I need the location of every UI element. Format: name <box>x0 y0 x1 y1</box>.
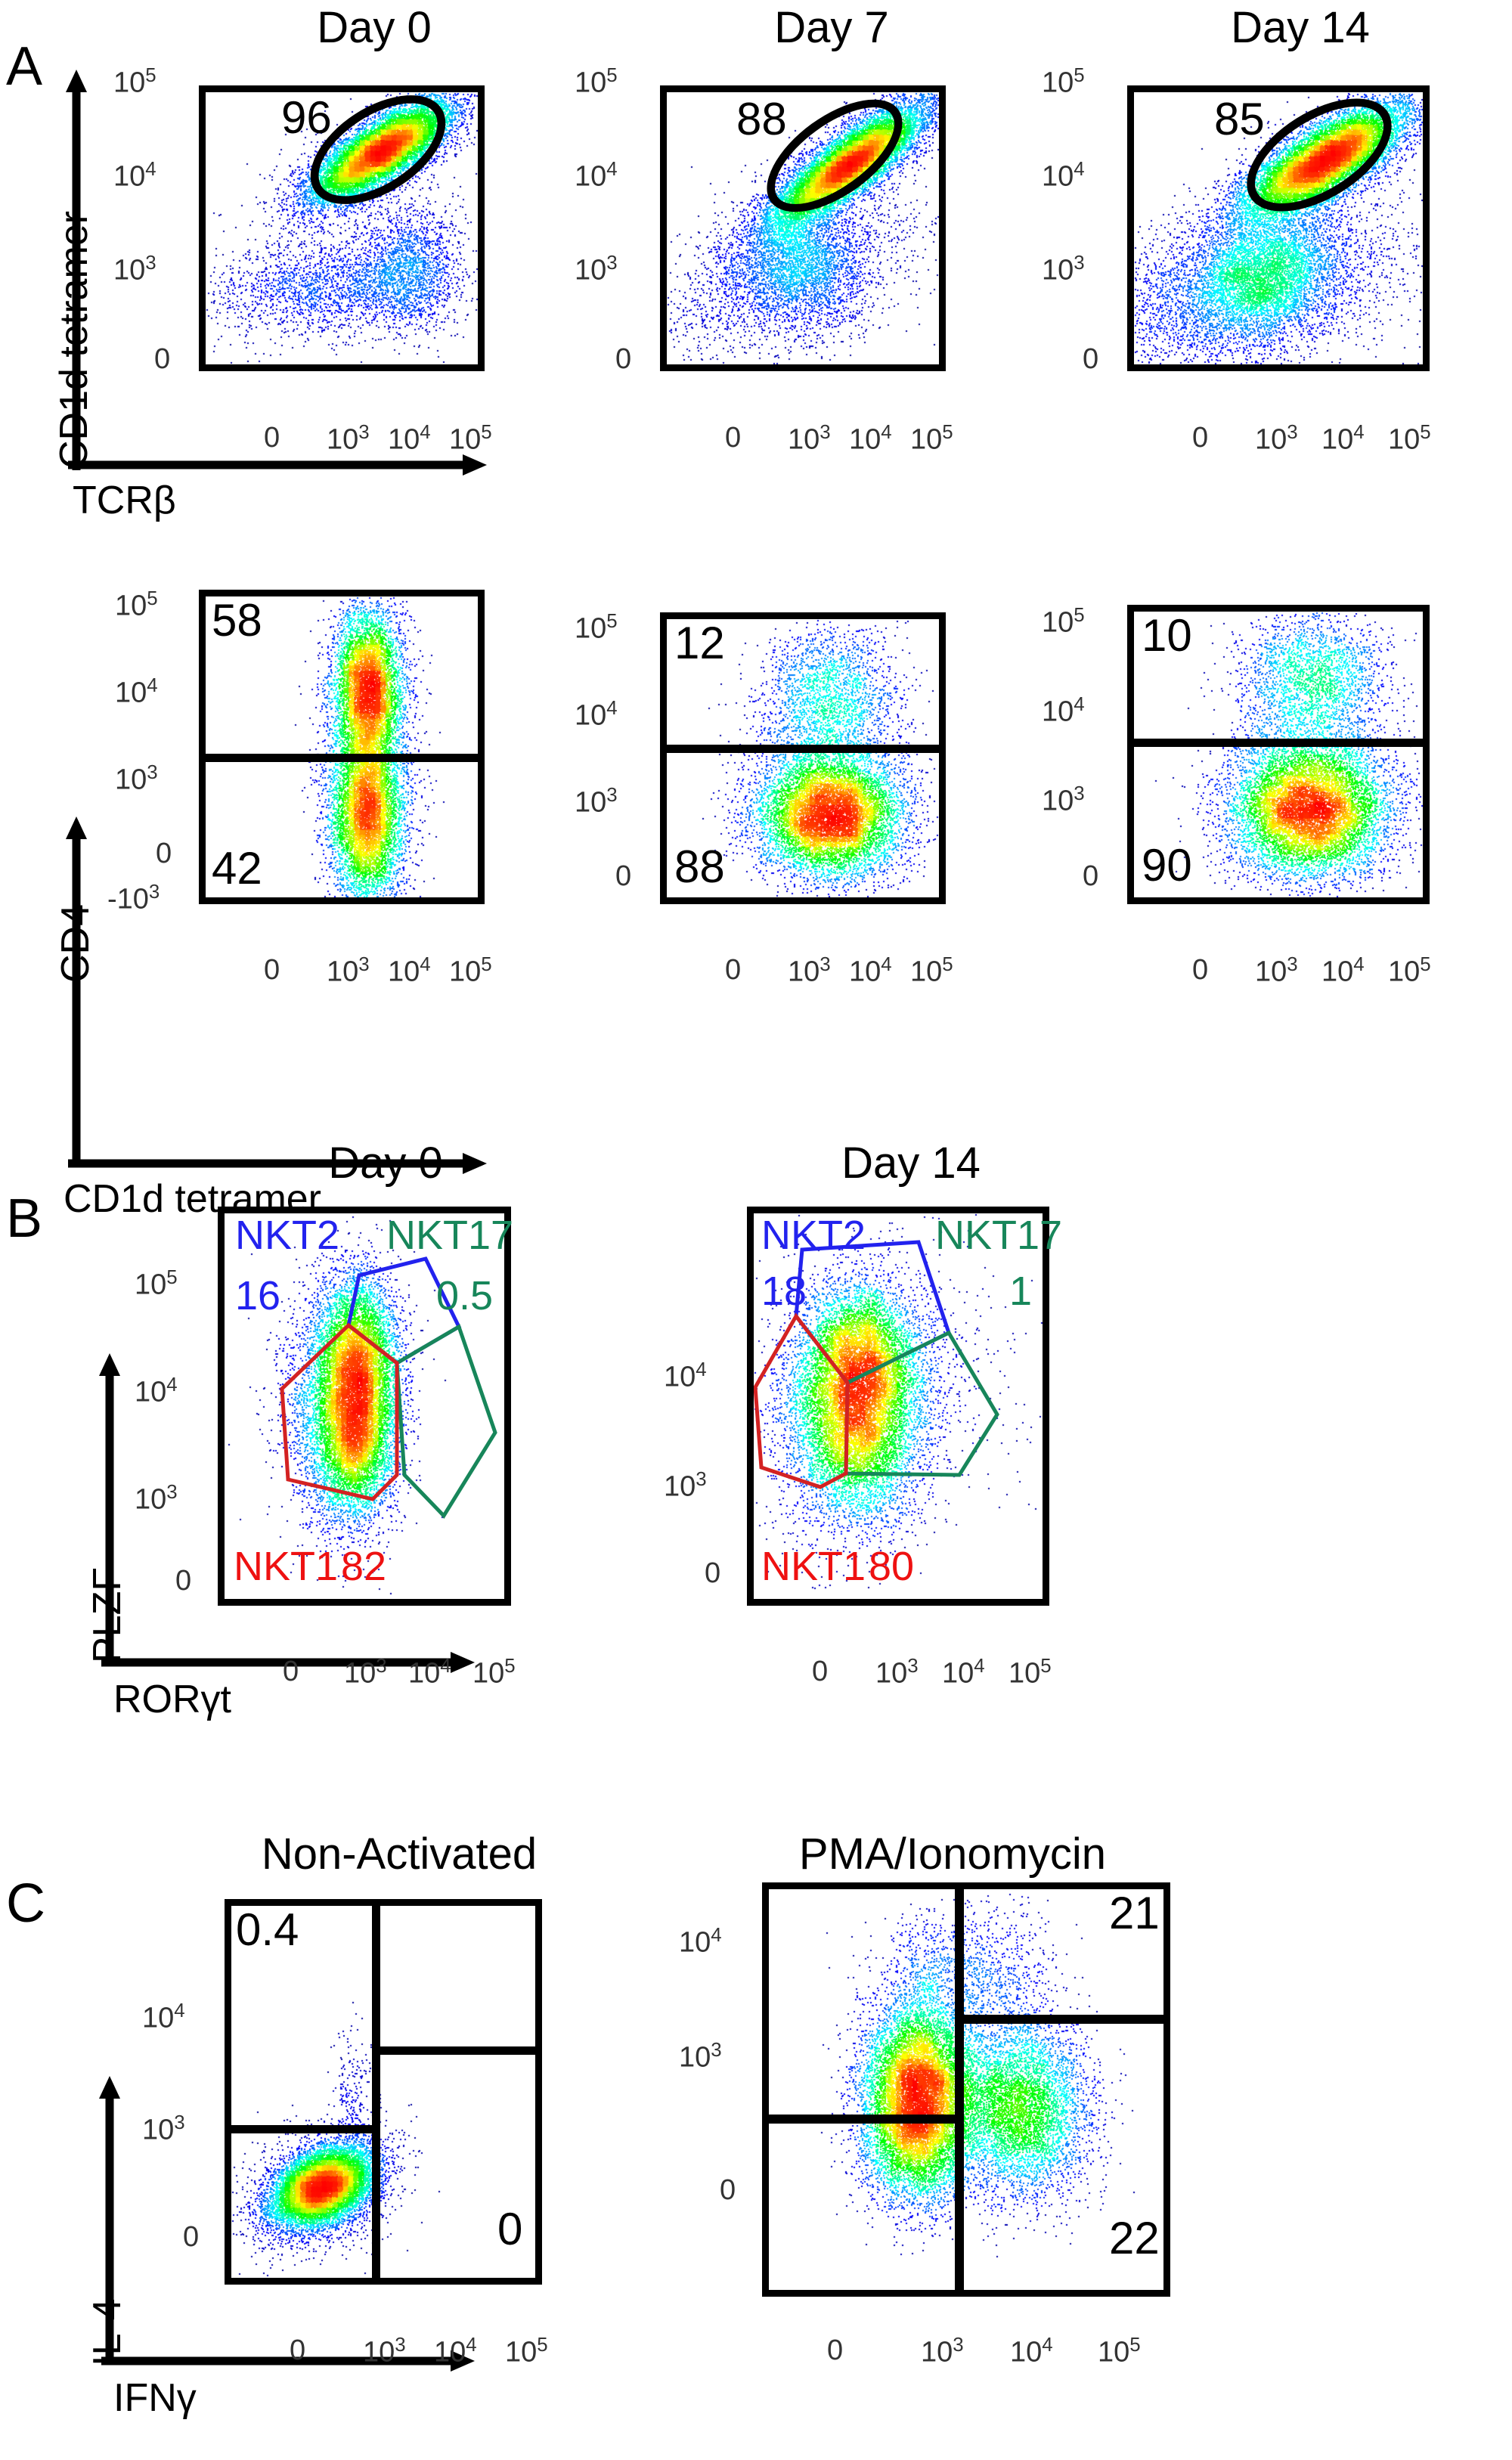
a1p1-ytick-1e4: 104 <box>113 160 156 191</box>
a1p3-ytick-1e4: 104 <box>1042 160 1085 191</box>
gate-value-a1-day7: 88 <box>736 97 787 142</box>
b2-ytick-1e3: 103 <box>664 1470 707 1501</box>
a1p3-xtick-1e4: 104 <box>1321 423 1365 454</box>
quadrant-line-h-left-c-pma[interactable] <box>769 2115 958 2124</box>
gate-value-a1-day0: 96 <box>281 95 332 141</box>
quadrant-line-v-c-nonactivated[interactable] <box>372 1906 380 2278</box>
a1p2-ytick-1e4: 104 <box>575 160 618 191</box>
c2-xtick-1e5: 105 <box>1098 2336 1141 2367</box>
a1p3-ytick-1e3: 103 <box>1042 254 1085 285</box>
plot-title-a1-day14: Day 14 <box>1119 6 1482 50</box>
a1p2-ytick-1e3: 103 <box>575 254 618 285</box>
plot-a1-day14[interactable]: 85 <box>1127 85 1430 371</box>
a2p3-ytick-1e5: 105 <box>1042 606 1085 637</box>
a1p3-xtick-1e3: 103 <box>1255 423 1298 454</box>
plot-title-c-pma: PMA/Ionomycin <box>726 1833 1179 1876</box>
gate-label-nkt17-b-day14: NKT17 <box>935 1215 1062 1256</box>
b-day0-gate-polygons[interactable] <box>225 1213 504 1599</box>
a1p3-xtick-1e5: 105 <box>1388 423 1431 454</box>
gate-value-nkt2-b-day0: 16 <box>235 1275 280 1316</box>
b-y-axis-label: PLZF <box>88 1567 127 1663</box>
a2p1-xtick-0: 0 <box>264 956 280 984</box>
b1-ytick-0: 0 <box>175 1566 191 1595</box>
c2-xtick-0: 0 <box>827 2336 843 2365</box>
a1p3-xtick-0: 0 <box>1192 423 1208 452</box>
plot-a1-day7[interactable]: 88 <box>660 85 946 371</box>
gate-value-lower-a2-day7: 88 <box>674 844 725 890</box>
quadrant-value-lower-right-c-nonactivated: 0 <box>497 2207 522 2252</box>
a1p1-ytick-1e5: 105 <box>113 67 156 98</box>
gate-value-upper-a2-day14: 10 <box>1142 613 1192 658</box>
a2p2-xtick-1e5: 105 <box>910 956 953 987</box>
quadrant-line-h-right-c-nonactivated[interactable] <box>375 2046 535 2055</box>
c-x-axis-arrow <box>97 2350 475 2372</box>
plot-a1-day0[interactable]: 96 <box>199 85 485 371</box>
a2p2-xtick-0: 0 <box>725 956 741 984</box>
plot-a2-day0[interactable]: 58 42 <box>199 590 485 904</box>
plot-title-b-day0: Day 0 <box>212 1142 559 1185</box>
a2p1-xtick-1e3: 103 <box>327 956 370 987</box>
b1-xtick-0: 0 <box>283 1657 299 1686</box>
gate-value-nkt17-b-day0: 0.5 <box>436 1275 493 1316</box>
b1-ytick-1e3: 103 <box>135 1483 178 1514</box>
a1-x-axis-arrow <box>64 454 487 476</box>
plot-b-day14[interactable]: NKT2 18 NKT17 1 NKT1 80 <box>747 1207 1049 1606</box>
gate-value-upper-a2-day0: 58 <box>212 598 262 643</box>
a2p2-ytick-1e4: 104 <box>575 699 618 730</box>
gate-value-nkt17-b-day14: 1 <box>1009 1271 1032 1312</box>
a2-y-axis-label: CD4 <box>56 904 95 983</box>
panel-letter-a: A <box>6 39 42 94</box>
c1-xtick-1e5: 105 <box>505 2336 548 2367</box>
c1-ytick-1e3: 103 <box>142 2114 185 2145</box>
a1p2-xtick-1e5: 105 <box>910 423 953 454</box>
a1p3-ytick-1e5: 105 <box>1042 67 1085 98</box>
b2-xtick-1e4: 104 <box>942 1657 985 1688</box>
plot-title-a1-day7: Day 7 <box>665 6 998 50</box>
gate-value-upper-a2-day7: 12 <box>674 621 725 666</box>
c1-ytick-0: 0 <box>183 2223 199 2251</box>
figure-root: A Day 0 Day 7 Day 14 CD1d tetramer TCRβ … <box>0 0 1512 2460</box>
a2p3-xtick-1e3: 103 <box>1255 956 1298 987</box>
a2-y-axis-arrow <box>65 816 88 1164</box>
b1-xtick-1e4: 104 <box>408 1657 451 1688</box>
b2-xtick-1e5: 105 <box>1009 1657 1052 1688</box>
a2p3-xtick-1e4: 104 <box>1321 956 1365 987</box>
gate-label-nkt17-b-day0: NKT17 <box>386 1215 513 1256</box>
b2-xtick-1e3: 103 <box>875 1657 919 1688</box>
a2p1-ytick-1e5: 105 <box>115 590 158 621</box>
a2p1-ytick-1e4: 104 <box>115 677 158 708</box>
c2-xtick-1e3: 103 <box>921 2336 964 2367</box>
b2-ytick-1e4: 104 <box>664 1361 707 1392</box>
plot-a2-day14[interactable]: 10 90 <box>1127 605 1430 904</box>
split-gate-line-a2-day7[interactable] <box>667 745 939 753</box>
a1p3-ytick-0: 0 <box>1083 345 1098 373</box>
a2p1-ytick-neg1e3: -103 <box>107 883 160 914</box>
c1-xtick-1e3: 103 <box>363 2336 406 2367</box>
quadrant-line-h-left-c-nonactivated[interactable] <box>231 2125 375 2133</box>
plot-title-b-day14: Day 14 <box>726 1142 1096 1185</box>
gate-value-nkt1-b-day0: 82 <box>341 1546 386 1587</box>
plot-title-a1-day0: Day 0 <box>200 6 548 50</box>
b-x-axis-label: RORγt <box>113 1680 231 1719</box>
quadrant-value-lower-right-c-pma: 22 <box>1109 2216 1160 2261</box>
c2-ytick-1e4: 104 <box>679 1926 722 1957</box>
plot-c-pma[interactable]: 21 22 <box>762 1882 1170 2297</box>
a1p1-xtick-1e4: 104 <box>388 423 431 454</box>
a2p1-xtick-1e5: 105 <box>449 956 492 987</box>
c2-ytick-1e3: 103 <box>679 2041 722 2072</box>
plot-c-nonactivated[interactable]: 0.4 0 <box>225 1899 542 2285</box>
b1-ytick-1e5: 105 <box>135 1269 178 1300</box>
c-x-axis-label: IFNγ <box>113 2378 197 2418</box>
a1p2-xtick-1e3: 103 <box>788 423 831 454</box>
c2-xtick-1e4: 104 <box>1010 2336 1053 2367</box>
split-gate-line-a2-day0[interactable] <box>206 754 478 762</box>
quadrant-value-upper-left-c-nonactivated: 0.4 <box>236 1907 299 1953</box>
quadrant-line-h-right-c-pma[interactable] <box>958 2015 1163 2024</box>
b2-xtick-0: 0 <box>812 1657 828 1686</box>
c1-ytick-1e4: 104 <box>142 2002 185 2033</box>
a2p3-xtick-0: 0 <box>1192 956 1208 984</box>
quadrant-line-v-c-pma[interactable] <box>955 1889 964 2290</box>
a1p2-xtick-1e4: 104 <box>849 423 892 454</box>
a2p2-xtick-1e3: 103 <box>788 956 831 987</box>
plot-title-c-nonactivated: Non-Activated <box>187 1833 611 1876</box>
gate-label-nkt1-b-day14: NKT1 <box>761 1546 866 1587</box>
panel-letter-c: C <box>6 1876 45 1931</box>
plot-b-day0[interactable]: NKT2 16 NKT17 0.5 NKT1 82 <box>218 1207 511 1606</box>
a2p3-xtick-1e5: 105 <box>1388 956 1431 987</box>
a1p2-ytick-0: 0 <box>615 345 631 373</box>
c1-xtick-1e4: 104 <box>434 2336 477 2367</box>
a1p2-xtick-0: 0 <box>725 423 741 452</box>
gate-value-lower-a2-day0: 42 <box>212 846 262 891</box>
c1-xtick-0: 0 <box>290 2336 305 2365</box>
gate-label-nkt2-b-day0: NKT2 <box>235 1215 339 1256</box>
b1-xtick-1e3: 103 <box>344 1657 387 1688</box>
a1p1-ytick-0: 0 <box>154 345 170 373</box>
a2p3-ytick-1e4: 104 <box>1042 696 1085 727</box>
a2p2-ytick-1e3: 103 <box>575 786 618 817</box>
gate-value-nkt1-b-day14: 80 <box>869 1546 914 1587</box>
a2p1-ytick-1e3: 103 <box>115 764 158 795</box>
a2p2-ytick-0: 0 <box>615 862 631 891</box>
a2p1-xtick-1e4: 104 <box>388 956 431 987</box>
b2-ytick-0: 0 <box>705 1559 720 1588</box>
a1p2-ytick-1e5: 105 <box>575 67 618 98</box>
b1-ytick-1e4: 104 <box>135 1376 178 1407</box>
a1-y-axis-label: CD1d tetramer <box>54 211 94 469</box>
a1p1-xtick-1e5: 105 <box>449 423 492 454</box>
split-gate-line-a2-day14[interactable] <box>1134 739 1423 747</box>
b1-xtick-1e5: 105 <box>472 1657 516 1688</box>
plot-a2-day7[interactable]: 12 88 <box>660 612 946 904</box>
gate-label-nkt2-b-day14: NKT2 <box>761 1215 866 1256</box>
quadrant-value-upper-right-c-pma: 21 <box>1109 1891 1160 1936</box>
a2p2-ytick-1e5: 105 <box>575 612 618 643</box>
a1p1-xtick-1e3: 103 <box>327 423 370 454</box>
a2p2-xtick-1e4: 104 <box>849 956 892 987</box>
gate-value-a1-day14: 85 <box>1214 97 1265 142</box>
gate-label-nkt1-b-day0: NKT1 <box>234 1546 338 1587</box>
a2p3-ytick-0: 0 <box>1083 862 1098 891</box>
a1p1-ytick-1e3: 103 <box>113 254 156 285</box>
a1p1-xtick-0: 0 <box>264 423 280 452</box>
gate-value-lower-a2-day14: 90 <box>1142 843 1192 888</box>
gate-value-nkt2-b-day14: 18 <box>761 1271 807 1312</box>
a2p3-ytick-1e3: 103 <box>1042 785 1085 816</box>
a1-x-axis-label: TCRβ <box>73 481 176 520</box>
c2-ytick-0: 0 <box>720 2176 736 2204</box>
a2p1-ytick-0: 0 <box>156 839 172 868</box>
panel-letter-b: B <box>6 1191 42 1246</box>
